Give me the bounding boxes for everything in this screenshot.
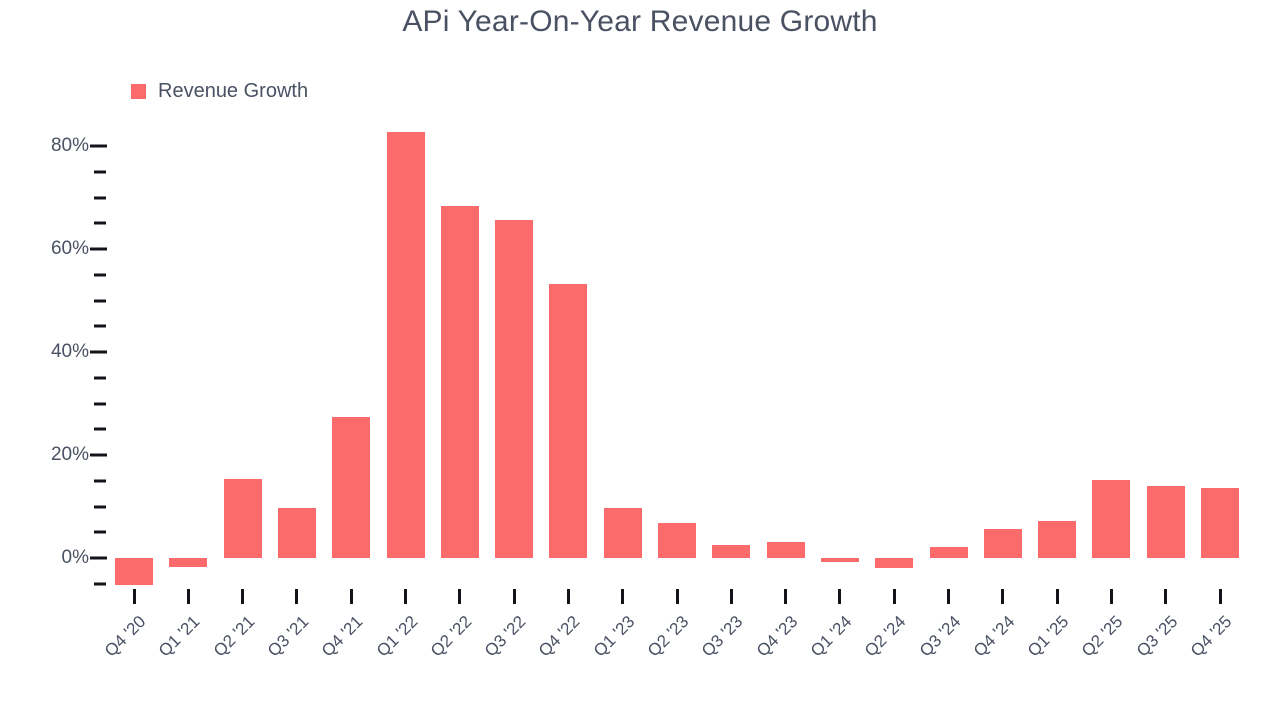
x-axis-label: Q3 '23 [694,612,748,666]
x-axis-tick [133,589,136,604]
x-axis-label: Q4 '24 [965,612,1019,666]
x-axis-tick [350,589,353,604]
y-axis-tick-minor [94,479,106,482]
x-axis-tick [241,589,244,604]
x-axis-label: Q3 '22 [476,612,530,666]
y-axis: 0%20%40%60%80% [0,0,115,620]
x-axis-tick [838,589,841,604]
x-axis-label: Q1 '24 [802,612,856,666]
x-axis-label: Q1 '22 [368,612,422,666]
y-axis-tick-minor [94,273,106,276]
y-axis-tick-major [90,145,107,148]
revenue-growth-chart: APi Year-On-Year Revenue Growth Revenue … [0,0,1280,720]
x-axis-tick [295,589,298,604]
x-axis-label: Q3 '24 [911,612,965,666]
x-axis-tick [893,589,896,604]
y-axis-tick-major [90,454,107,457]
y-axis-label: 80% [51,135,89,157]
x-axis-tick [621,589,624,604]
x-axis-label: Q2 '21 [205,612,259,666]
x-axis-label: Q1 '25 [1019,612,1073,666]
x-axis-tick [513,589,516,604]
x-axis-tick [1219,589,1222,604]
x-axis-label: Q4 '21 [314,612,368,666]
y-axis-tick-minor [94,196,106,199]
y-axis-label: 60% [51,238,89,260]
x-axis-tick [676,589,679,604]
y-axis-tick-minor [94,402,106,405]
x-axis-label: Q2 '23 [639,612,693,666]
y-axis-label: 40% [51,341,89,363]
x-axis-tick [458,589,461,604]
y-axis-tick-minor [94,531,106,534]
x-axis-tick [187,589,190,604]
y-axis-tick-minor [94,376,106,379]
x-axis-label: Q2 '24 [857,612,911,666]
x-axis-label: Q1 '23 [585,612,639,666]
y-axis-label: 0% [62,547,89,569]
x-axis-label: Q4 '25 [1182,612,1236,666]
y-axis-tick-major [90,248,107,251]
x-axis-tick [784,589,787,604]
x-axis-tick [1056,589,1059,604]
plot-area: 0%20%40%60%80% Q4 '20Q1 '21Q2 '21Q3 '21Q… [0,0,1280,720]
x-axis-tick [567,589,570,604]
x-axis: Q4 '20Q1 '21Q2 '21Q3 '21Q4 '21Q1 '22Q2 '… [115,0,1255,720]
y-axis-tick-major [90,351,107,354]
x-axis-tick [404,589,407,604]
y-axis-tick-minor [94,505,106,508]
x-axis-label: Q3 '25 [1128,612,1182,666]
x-axis-label: Q3 '21 [259,612,313,666]
y-axis-tick-minor [94,170,106,173]
x-axis-label: Q4 '23 [748,612,802,666]
x-axis-label: Q2 '25 [1074,612,1128,666]
x-axis-tick [730,589,733,604]
x-axis-tick [1001,589,1004,604]
x-axis-tick [947,589,950,604]
x-axis-tick [1110,589,1113,604]
y-axis-tick-minor [94,325,106,328]
y-axis-label: 20% [51,444,89,466]
x-axis-tick [1164,589,1167,604]
x-axis-label: Q4 '20 [96,612,150,666]
y-axis-tick-minor [94,428,106,431]
y-axis-tick-major [90,557,107,560]
x-axis-label: Q1 '21 [151,612,205,666]
y-axis-tick-minor [94,299,106,302]
y-axis-tick-minor [94,222,106,225]
y-axis-tick-minor [94,582,106,585]
x-axis-label: Q2 '22 [422,612,476,666]
x-axis-label: Q4 '22 [531,612,585,666]
